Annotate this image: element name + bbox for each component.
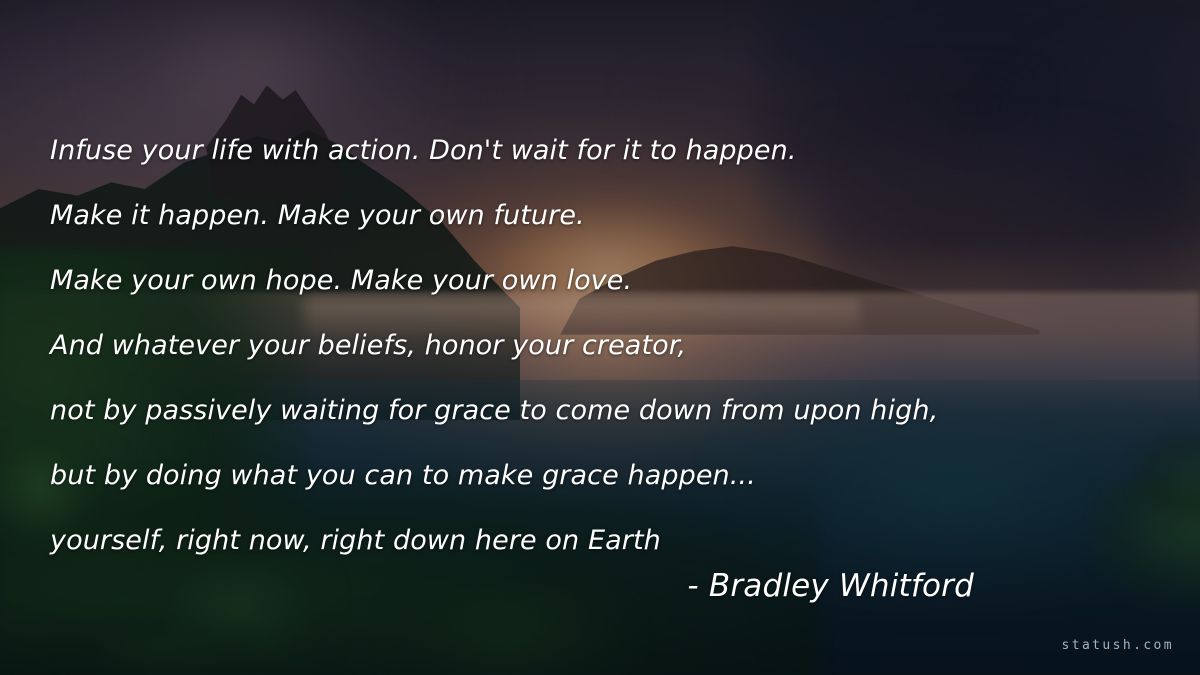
quote-line: Make your own hope. Make your own love. <box>50 248 1160 313</box>
quote-card: Infuse your life with action. Don't wait… <box>0 0 1200 675</box>
quote-line: not by passively waiting for grace to co… <box>50 378 1160 443</box>
quote-line: Make it happen. Make your own future. <box>50 183 1160 248</box>
quote-line: yourself, right now, right down here on … <box>50 508 1160 573</box>
quote-attribution: - Bradley Whitford <box>0 568 1152 604</box>
site-watermark: statush.com <box>1062 638 1175 653</box>
quote-line: And whatever your beliefs, honor your cr… <box>50 313 1160 378</box>
quote-text: Infuse your life with action. Don't wait… <box>50 118 1160 573</box>
quote-line: but by doing what you can to make grace … <box>50 443 1160 508</box>
quote-line: Infuse your life with action. Don't wait… <box>50 118 1160 183</box>
